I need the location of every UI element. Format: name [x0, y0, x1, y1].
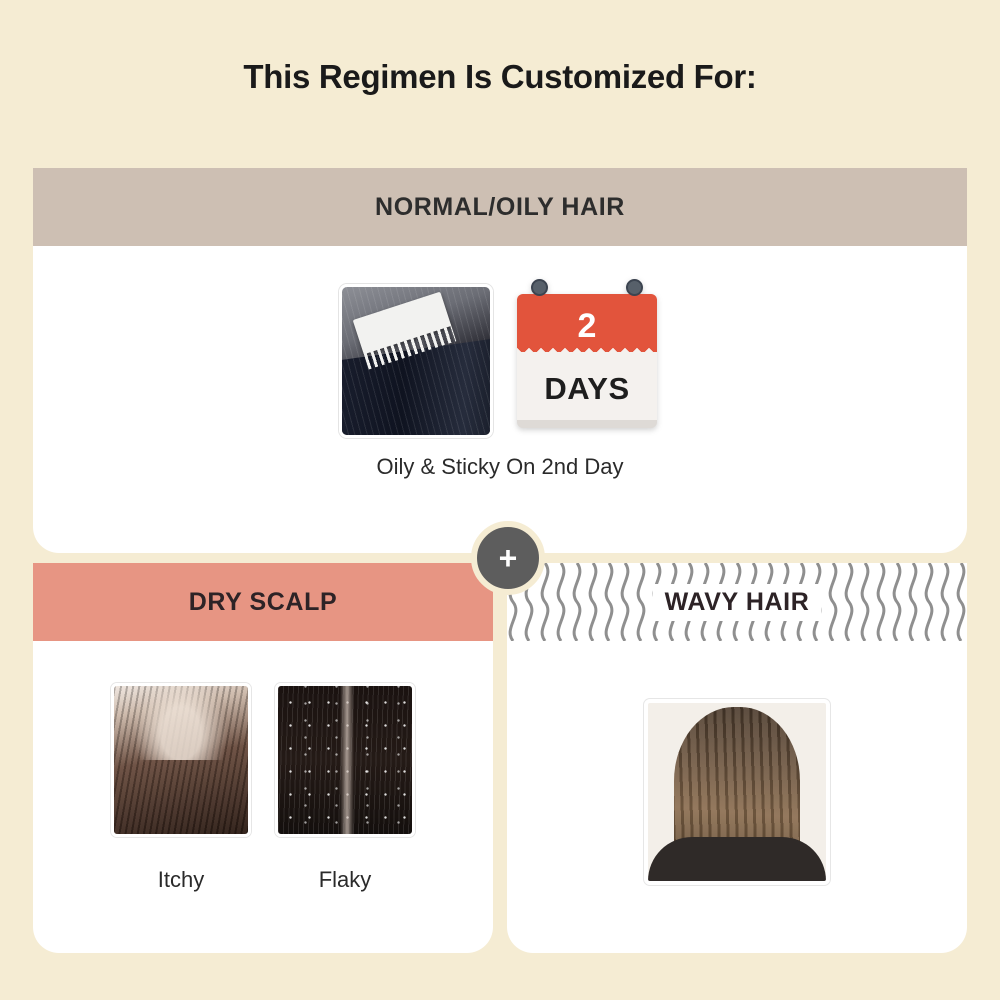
normal-oily-icon-row: 2 DAYS: [33, 284, 967, 438]
calendar-base-shadow: [517, 420, 657, 428]
calendar-body: 2 DAYS: [517, 294, 657, 426]
card-dry-scalp: DRY SCALP Itchy Flaky: [33, 563, 493, 953]
card-normal-oily-body: 2 DAYS Oily & Sticky On 2nd Day: [33, 246, 967, 553]
hair-comb-photo: [339, 284, 493, 438]
normal-oily-caption: Oily & Sticky On 2nd Day: [33, 454, 967, 480]
itchy-scalp-photo: [111, 683, 251, 837]
card-dry-scalp-title: DRY SCALP: [189, 588, 337, 617]
page-title: This Regimen Is Customized For:: [0, 58, 1000, 96]
card-normal-oily-hair: NORMAL/OILY HAIR 2 DAYS Oily: [33, 168, 967, 553]
calendar-header: 2: [517, 294, 657, 352]
card-wavy-hair-band: WAVY HAIR: [507, 563, 967, 641]
calendar-ring-left-icon: [531, 279, 548, 296]
flakes-texture: [278, 686, 412, 834]
itchy-caption: Itchy: [111, 867, 251, 893]
calendar-ring-right-icon: [626, 279, 643, 296]
wavy-hair-photo-wrap: [507, 699, 967, 885]
flaky-scalp-photo: [275, 683, 415, 837]
plus-badge-icon: +: [471, 521, 545, 595]
dry-scalp-caption-row: Itchy Flaky: [33, 867, 493, 893]
card-dry-scalp-band: DRY SCALP: [33, 563, 493, 641]
calendar-icon: 2 DAYS: [513, 284, 661, 432]
calendar-number: 2: [578, 307, 597, 346]
calendar-zigzag: [517, 344, 657, 353]
card-wavy-hair: WAVY HAIR: [507, 563, 967, 953]
flaky-caption: Flaky: [275, 867, 415, 893]
shoulder-shape: [648, 837, 826, 881]
card-wavy-hair-title: WAVY HAIR: [653, 584, 822, 621]
wavy-hair-photo: [644, 699, 830, 885]
calendar-unit-label: DAYS: [517, 352, 657, 426]
card-normal-oily-title: NORMAL/OILY HAIR: [375, 193, 625, 222]
dry-scalp-photo-row: [33, 683, 493, 837]
card-normal-oily-band: NORMAL/OILY HAIR: [33, 168, 967, 246]
